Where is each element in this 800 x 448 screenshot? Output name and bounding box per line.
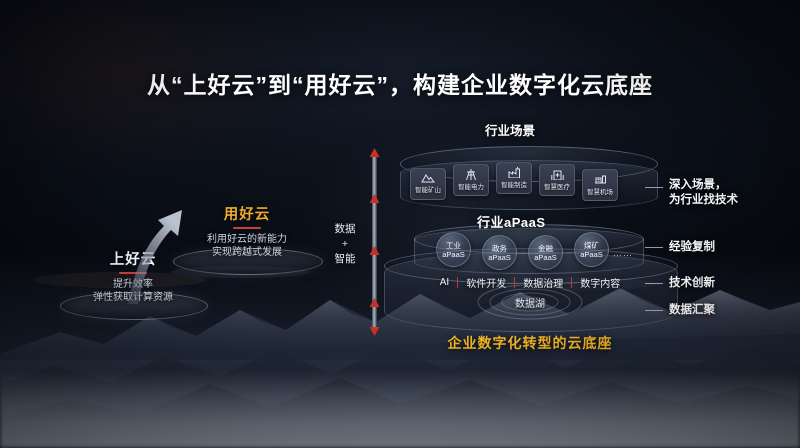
data-label: 数据 [328,222,362,237]
base-item-digital-content: 数字内容 [580,275,620,290]
power-tower-icon [465,169,477,180]
upward-growth-arrow [118,196,208,306]
hospital-icon [551,169,564,180]
podium-rule-yong-hao-yun [233,227,261,229]
apaas-bubble-government[interactable]: 政务 aPaaS [482,235,517,270]
annotation-leader-line [645,247,663,248]
scenario-card-smart-mine[interactable]: 智能矿山 [410,168,446,200]
annotation-tech-innovation: 技术创新 [669,276,715,291]
apaas-bubble-line1: 工业 [446,241,461,250]
apaas-bubble-finance[interactable]: 金融 aPaaS [528,235,563,270]
data-lake-label: 数据湖 [380,295,680,310]
apaas-bubble-line2: aPaaS [534,253,557,262]
mountain-icon [421,173,435,183]
annotation-leader-line [645,283,663,284]
intelligence-label: 智能 [328,252,362,267]
apaas-bubble-line1: 金融 [538,244,553,253]
apaas-bubble-industry[interactable]: 工业 aPaaS [436,232,471,267]
cloud-foundation-stack: AI 软件开发 数据治理 数字内容 数据湖 行业aPaaS 工业 aPaaS 政… [380,120,680,350]
annotation-leader-line [645,187,663,188]
annotation-data-aggregation: 数据汇聚 [669,303,715,318]
bottom-caption: 企业数字化转型的云底座 [380,333,680,353]
scenario-card-smart-airport[interactable]: 智慧机场 [582,169,618,201]
base-separator [571,277,572,288]
base-item-ai: AI [440,277,449,288]
plus-label: + [328,237,362,252]
scenario-card-caption: 智能矿山 [415,185,441,194]
base-capability-row: AI 软件开发 数据治理 数字内容 [392,275,668,290]
apaas-bubble-line2: aPaaS [488,253,511,262]
apaas-tier-label: 行业aPaaS [477,212,546,231]
apaas-bubble-line2: aPaaS [442,250,465,259]
apaas-bubble-line1: 煤矿 [584,241,599,250]
apaas-bubble-line1: 政务 [492,244,507,253]
apaas-bubble-line2: aPaaS [580,250,603,259]
scenario-card-caption: 智能电力 [458,182,484,191]
scenario-card-smart-healthcare[interactable]: 智慧医疗 [539,164,575,196]
slide-canvas: 从“上好云”到“用好云”，构建企业数字化云底座 上好云 提升效率 弹性获取计算资… [0,0,800,448]
base-separator [457,277,458,288]
base-separator [514,277,515,288]
scenario-card-smart-power[interactable]: 智能电力 [453,164,489,196]
scenario-tier-label: 行业场景 [485,120,535,139]
base-item-data-governance: 数据治理 [523,275,563,290]
annotation-deep-scenario: 深入场景， 为行业找技术 [669,178,738,208]
annotation-leader-line [645,310,663,311]
scenario-card-caption: 智慧机场 [587,187,613,196]
scenario-card-caption: 智慧医疗 [544,182,570,191]
factory-icon [508,167,521,178]
annotation-experience-replication: 经验复制 [669,240,715,255]
airport-icon [594,174,607,185]
scenario-card-caption: 智能制造 [501,180,527,189]
page-title: 从“上好云”到“用好云”，构建企业数字化云底座 [0,66,800,100]
apaas-bubble-coal-mining[interactable]: 煤矿 aPaaS [574,232,609,267]
apaas-more-ellipsis: …… [613,248,633,258]
scenario-card-smart-manufacturing[interactable]: 智能制造 [496,162,532,194]
data-intelligence-label: 数据 + 智能 [328,222,362,267]
base-item-software-dev: 软件开发 [466,275,506,290]
